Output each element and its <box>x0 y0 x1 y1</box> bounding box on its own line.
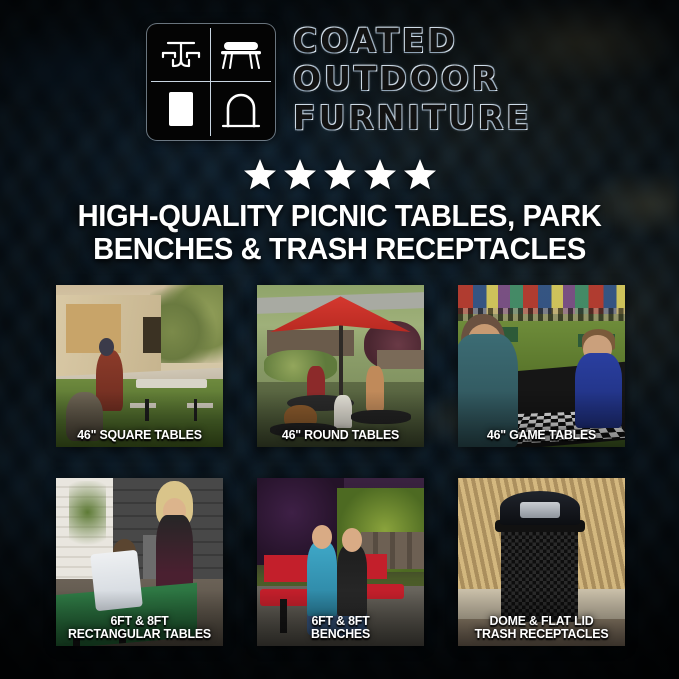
headline-line-2: BENCHES & TRASH RECEPTACLES <box>45 233 634 266</box>
star-rating <box>0 158 679 191</box>
tile-caption: 46" ROUND TABLES <box>263 428 418 442</box>
caption-line: 6FT & 8FT <box>263 614 418 628</box>
coated-outdoor-furniture-logo <box>147 24 275 140</box>
picnic-table-icon <box>151 28 211 82</box>
caption-line: 6FT & 8FT <box>62 614 217 628</box>
headline-line-1: HIGH-QUALITY PICNIC TABLES, PARK <box>78 198 602 233</box>
tile-caption: 46" GAME TABLES <box>464 428 619 442</box>
advertisement-banner: COATED OUTDOOR FURNITURE HIGH-QUALITY PI… <box>0 0 679 679</box>
brand-word-furniture: FURNITURE <box>293 99 532 137</box>
tile-caption: 6FT & 8FT BENCHES <box>263 614 418 641</box>
caption-line: DOME & FLAT LID <box>464 614 619 628</box>
product-tile-benches[interactable]: 6FT & 8FT BENCHES <box>257 478 424 646</box>
trash-receptacle-icon <box>151 82 211 136</box>
caption-line: TRASH RECEPTACLES <box>464 627 619 641</box>
caption-line: RECTANGULAR TABLES <box>62 627 217 641</box>
product-tile-rectangular-tables[interactable]: 6FT & 8FT RECTANGULAR TABLES <box>56 478 223 646</box>
tile-caption: 46" SQUARE TABLES <box>62 428 217 442</box>
caption-line: 46" ROUND TABLES <box>263 428 418 442</box>
product-tile-game-tables[interactable]: 46" GAME TABLES <box>458 285 625 447</box>
brand-wordmark: COATED OUTDOOR FURNITURE <box>293 22 532 137</box>
star-icon <box>363 158 397 191</box>
caption-line: 46" SQUARE TABLES <box>62 428 217 442</box>
park-bench-icon <box>211 28 271 82</box>
product-tile-square-tables[interactable]: 46" SQUARE TABLES <box>56 285 223 447</box>
brand-header: COATED OUTDOOR FURNITURE <box>0 24 679 140</box>
bike-rack-arch-icon <box>211 82 271 136</box>
star-icon <box>283 158 317 191</box>
product-category-grid: 46" SQUARE TABLES 46" ROUND TABLES <box>56 285 623 646</box>
product-tile-trash-receptacles[interactable]: DOME & FLAT LID TRASH RECEPTACLES <box>458 478 625 646</box>
product-tile-round-tables[interactable]: 46" ROUND TABLES <box>257 285 424 447</box>
brand-word-coated: COATED <box>293 22 532 60</box>
tile-caption: DOME & FLAT LID TRASH RECEPTACLES <box>464 614 619 641</box>
tile-caption: 6FT & 8FT RECTANGULAR TABLES <box>62 614 217 641</box>
brand-word-outdoor: OUTDOOR <box>293 60 532 98</box>
star-icon <box>403 158 437 191</box>
caption-line: 46" GAME TABLES <box>464 428 619 442</box>
page-title: HIGH-QUALITY PICNIC TABLES, PARK BENCHES… <box>45 200 634 266</box>
caption-line: BENCHES <box>263 627 418 641</box>
star-icon <box>243 158 277 191</box>
star-icon <box>323 158 357 191</box>
